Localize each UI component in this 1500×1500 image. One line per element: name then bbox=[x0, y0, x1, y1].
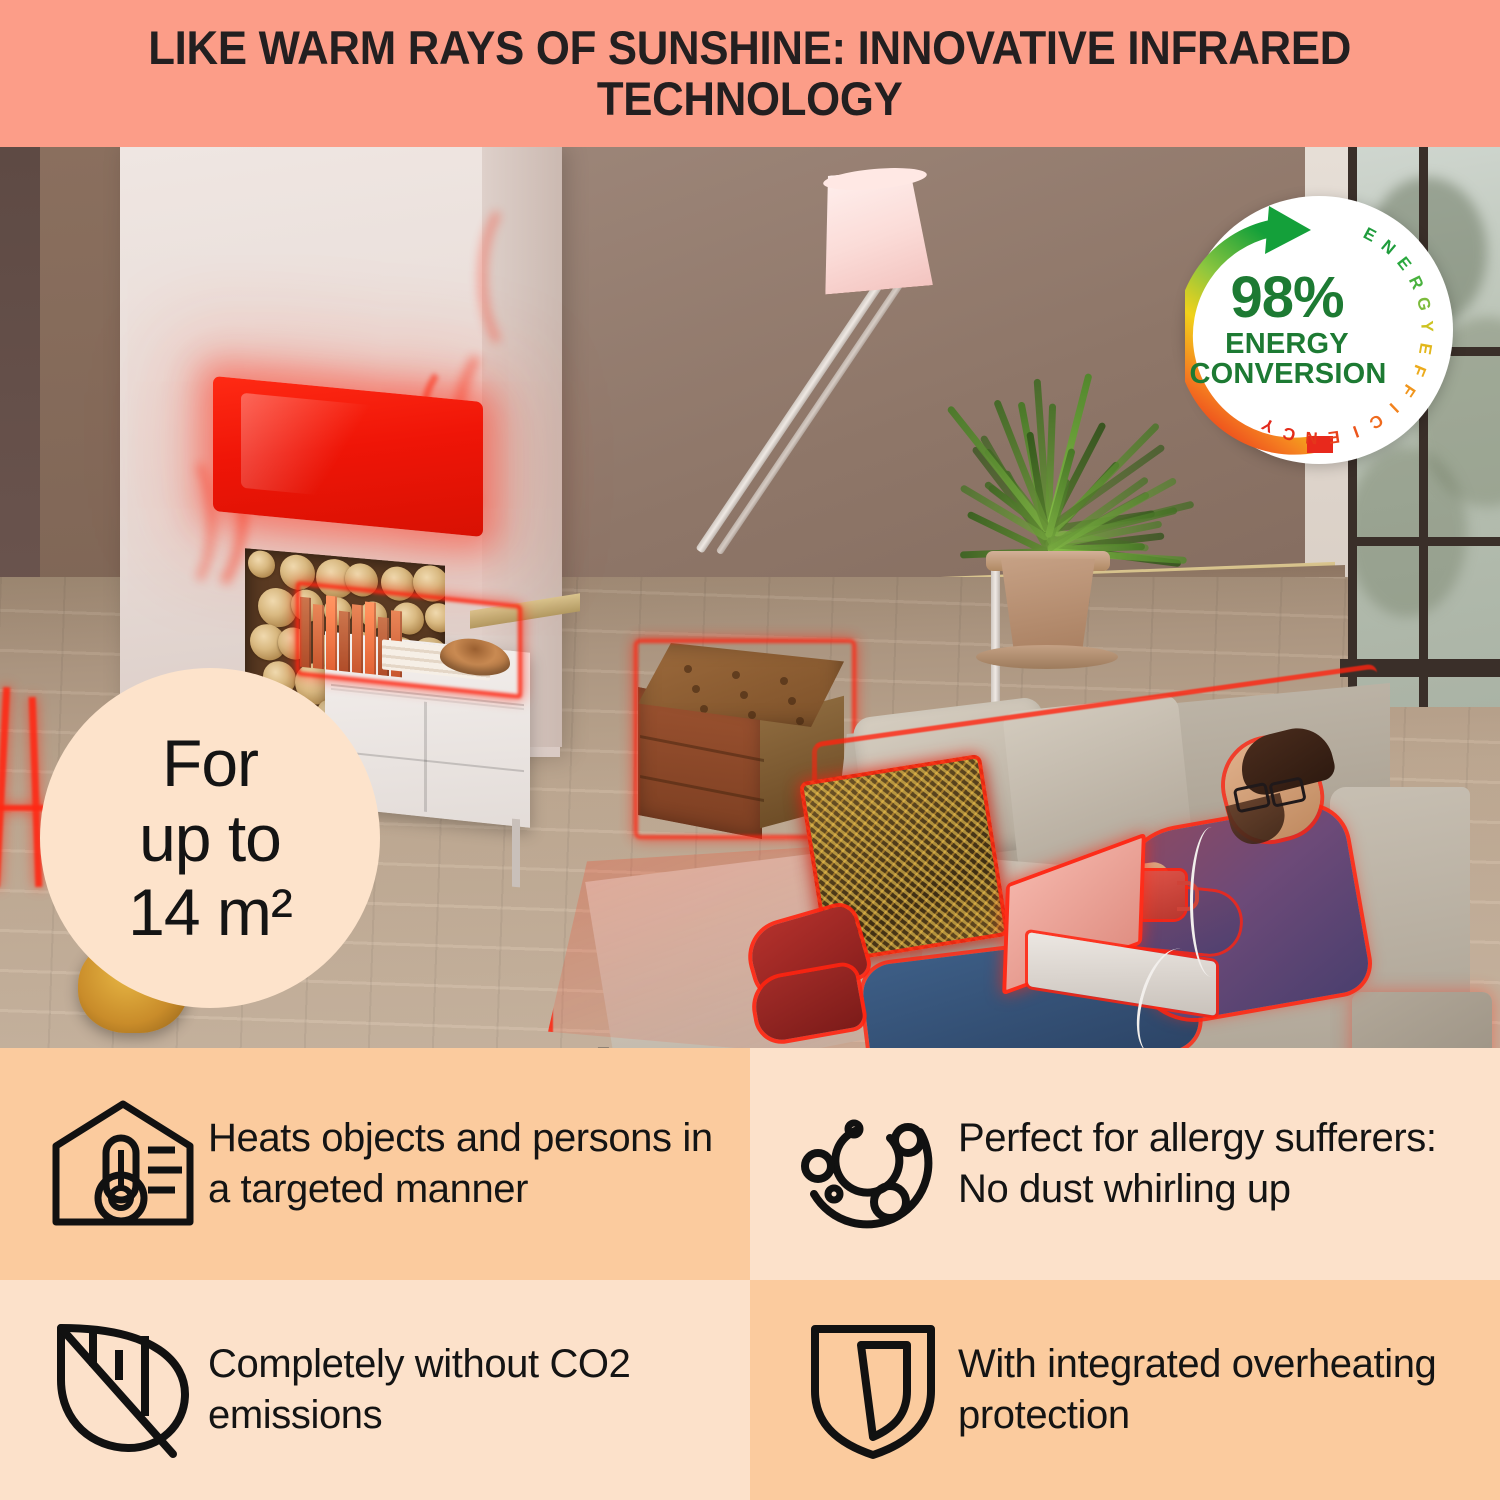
feature-label: Completely without CO2 emissions bbox=[208, 1339, 716, 1441]
feature-label: Perfect for allergy sufferers: No dust w… bbox=[958, 1113, 1466, 1215]
header-banner: LIKE WARM RAYS OF SUNSHINE: INNOVATIVE I… bbox=[0, 0, 1500, 147]
svg-text:F: F bbox=[1398, 381, 1420, 400]
plant-saucer bbox=[976, 645, 1118, 669]
svg-text:Y: Y bbox=[1258, 414, 1278, 436]
feature-label: Heats objects and persons in a targeted … bbox=[208, 1113, 716, 1215]
feature-label: With integrated overheating protection bbox=[958, 1339, 1466, 1441]
svg-text:E: E bbox=[1393, 253, 1415, 274]
page-title: LIKE WARM RAYS OF SUNSHINE: INNOVATIVE I… bbox=[149, 23, 1352, 125]
svg-text:F: F bbox=[1408, 362, 1430, 379]
house-thermometer-icon bbox=[38, 1089, 208, 1239]
svg-text:N: N bbox=[1305, 428, 1319, 448]
infrared-wave-arc bbox=[478, 193, 562, 361]
svg-text:N: N bbox=[1378, 236, 1400, 258]
svg-text:I: I bbox=[1386, 399, 1403, 416]
svg-text:R: R bbox=[1405, 273, 1427, 292]
feature-card-targeted-heating: Heats objects and persons in a targeted … bbox=[0, 1048, 750, 1280]
infrared-heating-panel bbox=[213, 376, 483, 537]
coverage-area-badge: For up to 14 m² bbox=[40, 668, 380, 1008]
feature-card-overheating: With integrated overheating protection bbox=[750, 1280, 1500, 1500]
earphone-cord bbox=[1190, 827, 1233, 977]
energy-efficiency-badge: 98% ENERGY CONVERSION ENERGYEFFICIENCY bbox=[1185, 196, 1453, 464]
feature-card-co2: Completely without CO2 emissions bbox=[0, 1280, 750, 1500]
leaf-icon bbox=[38, 1315, 208, 1465]
shield-icon bbox=[788, 1315, 958, 1465]
svg-text:Y: Y bbox=[1417, 320, 1436, 333]
feature-grid: Heats objects and persons in a targeted … bbox=[0, 1048, 1500, 1500]
svg-text:C: C bbox=[1281, 423, 1298, 445]
badge-arc-text: ENERGYEFFICIENCY bbox=[1185, 196, 1453, 464]
coverage-area-text: For up to 14 m² bbox=[128, 726, 292, 950]
svg-text:C: C bbox=[1366, 410, 1386, 433]
svg-text:E: E bbox=[1360, 224, 1379, 246]
infrared-wave-arc bbox=[146, 447, 216, 597]
sofa-throw-blanket bbox=[1352, 992, 1492, 1048]
svg-text:E: E bbox=[1327, 427, 1341, 447]
svg-text:E: E bbox=[1415, 342, 1436, 356]
svg-text:G: G bbox=[1413, 295, 1435, 312]
panel-gloss bbox=[241, 393, 387, 502]
svg-text:I: I bbox=[1350, 422, 1361, 441]
dust-particles-icon bbox=[788, 1089, 958, 1239]
feature-card-allergy: Perfect for allergy sufferers: No dust w… bbox=[750, 1048, 1500, 1280]
infographic-page: LIKE WARM RAYS OF SUNSHINE: INNOVATIVE I… bbox=[0, 0, 1500, 1500]
